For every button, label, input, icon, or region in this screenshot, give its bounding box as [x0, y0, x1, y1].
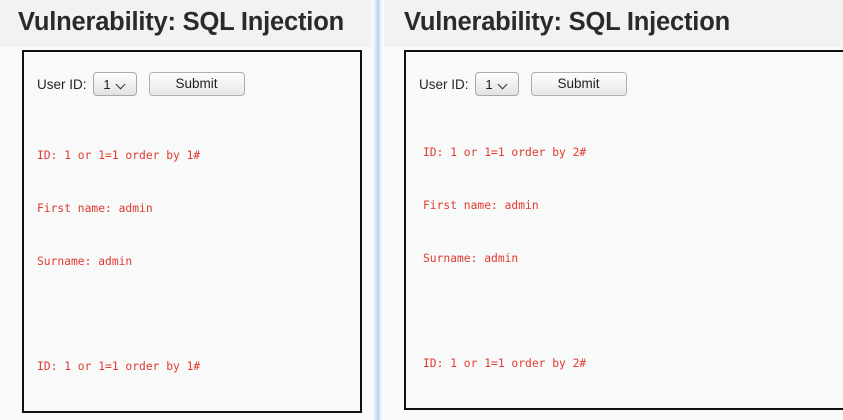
- user-id-label: User ID:: [37, 77, 87, 92]
- results-output: ID: 1 or 1=1 order by 2# First name: adm…: [406, 96, 843, 410]
- user-id-select[interactable]: 1: [93, 72, 137, 96]
- record-id: ID: 1 or 1=1 order by 1#: [37, 358, 360, 376]
- page-header-left: Vulnerability: SQL Injection: [0, 0, 372, 47]
- pane-divider: [372, 0, 384, 420]
- page-body-right: User ID: 1 Submit ID: 1 or 1=1 order by …: [384, 47, 843, 420]
- user-id-form: User ID: 1 Submit: [24, 52, 360, 96]
- page-header-right: Vulnerability: SQL Injection: [384, 0, 843, 47]
- chevron-down-icon: [499, 80, 508, 89]
- record-id: ID: 1 or 1=1 order by 2#: [423, 144, 843, 162]
- results-output: ID: 1 or 1=1 order by 1# First name: adm…: [24, 96, 360, 413]
- page-title: Vulnerability: SQL Injection: [0, 0, 372, 38]
- vulnerability-box: User ID: 1 Submit ID: 1 or 1=1 order by …: [404, 50, 843, 410]
- user-id-select[interactable]: 1: [475, 72, 519, 96]
- record-id: ID: 1 or 1=1 order by 1#: [37, 147, 360, 165]
- pane-left: Vulnerability: SQL Injection User ID: 1 …: [0, 0, 372, 420]
- user-id-select-value: 1: [485, 78, 492, 91]
- user-id-select-value: 1: [103, 78, 110, 91]
- result-record: ID: 1 or 1=1 order by 2# First name: Gor…: [423, 320, 843, 410]
- page-body-left: User ID: 1 Submit ID: 1 or 1=1 order by …: [0, 47, 372, 420]
- record-first-name: First name: Gordon: [423, 408, 843, 410]
- result-record: ID: 1 or 1=1 order by 2# First name: adm…: [423, 109, 843, 303]
- submit-button[interactable]: Submit: [531, 72, 627, 96]
- record-surname: Surname: admin: [423, 250, 843, 268]
- record-first-name: First name: admin: [423, 197, 843, 215]
- record-first-name: First name: admin: [37, 200, 360, 218]
- result-record: ID: 1 or 1=1 order by 1# First name: Bob…: [37, 323, 360, 413]
- submit-button[interactable]: Submit: [149, 72, 245, 96]
- record-surname: Surname: admin: [37, 253, 360, 271]
- vulnerability-box: User ID: 1 Submit ID: 1 or 1=1 order by …: [22, 50, 362, 413]
- result-record: ID: 1 or 1=1 order by 1# First name: adm…: [37, 112, 360, 306]
- record-first-name: First name: Bob: [37, 411, 360, 413]
- record-id: ID: 1 or 1=1 order by 2#: [423, 355, 843, 373]
- pane-right: Vulnerability: SQL Injection User ID: 1 …: [384, 0, 843, 420]
- user-id-label: User ID:: [419, 77, 469, 92]
- screenshot-root: Vulnerability: SQL Injection User ID: 1 …: [0, 0, 843, 420]
- user-id-form: User ID: 1 Submit: [406, 52, 843, 96]
- chevron-down-icon: [117, 80, 126, 89]
- page-title: Vulnerability: SQL Injection: [384, 0, 843, 38]
